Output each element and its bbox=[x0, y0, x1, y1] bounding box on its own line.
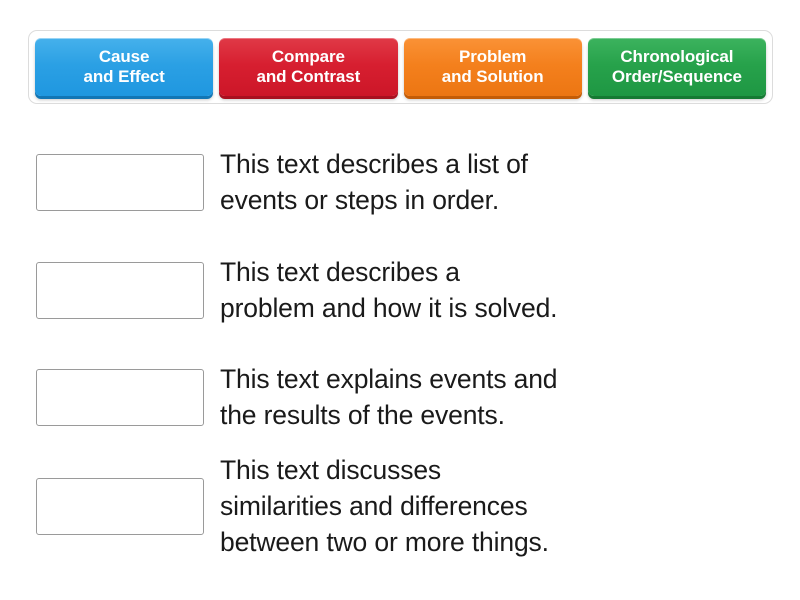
tile-label-line1: Problem bbox=[459, 47, 526, 67]
dropzone-4[interactable] bbox=[36, 478, 204, 535]
prompt-text-2: This text describes a problem and how it… bbox=[220, 254, 557, 326]
dropzone-1[interactable] bbox=[36, 154, 204, 211]
question-row-4: This text discusses similarities and dif… bbox=[0, 450, 800, 562]
question-rows: This text describes a list of events or … bbox=[0, 128, 800, 562]
tile-label-line2: and Contrast bbox=[257, 67, 361, 87]
tile-label-line2: and Solution bbox=[442, 67, 544, 87]
tile-label-line2: and Effect bbox=[84, 67, 165, 87]
tile-label-line1: Chronological bbox=[620, 47, 733, 67]
activity-canvas: Cause and Effect Compare and Contrast Pr… bbox=[0, 0, 800, 600]
draggable-tile-problem-and-solution[interactable]: Problem and Solution bbox=[404, 38, 582, 96]
draggable-tiles-tray: Cause and Effect Compare and Contrast Pr… bbox=[28, 30, 773, 104]
draggable-tile-chronological-order-sequence[interactable]: Chronological Order/Sequence bbox=[588, 38, 766, 96]
dropzone-3[interactable] bbox=[36, 369, 204, 426]
tile-label-line2: Order/Sequence bbox=[612, 67, 742, 87]
tile-label-line1: Compare bbox=[272, 47, 345, 67]
draggable-tile-cause-and-effect[interactable]: Cause and Effect bbox=[35, 38, 213, 96]
question-row-1: This text describes a list of events or … bbox=[0, 128, 800, 236]
prompt-text-1: This text describes a list of events or … bbox=[220, 146, 528, 218]
draggable-tile-compare-and-contrast[interactable]: Compare and Contrast bbox=[219, 38, 397, 96]
prompt-text-3: This text explains events and the result… bbox=[220, 361, 557, 433]
question-row-3: This text explains events and the result… bbox=[0, 344, 800, 450]
tile-label-line1: Cause bbox=[99, 47, 150, 67]
question-row-2: This text describes a problem and how it… bbox=[0, 236, 800, 344]
dropzone-2[interactable] bbox=[36, 262, 204, 319]
prompt-text-4: This text discusses similarities and dif… bbox=[220, 452, 549, 560]
